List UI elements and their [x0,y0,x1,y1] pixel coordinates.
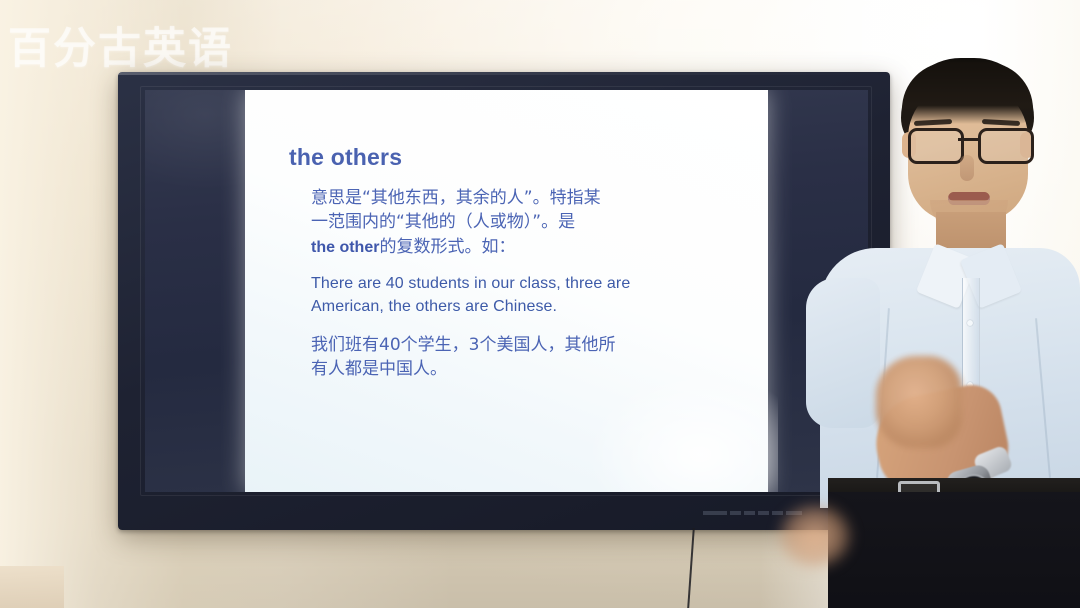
definition-line-3-suffix: 的复数形式。如： [379,237,515,257]
presenter-trousers [828,492,1080,608]
shirt-fold-right [1035,318,1051,478]
bezel-button-1[interactable] [703,511,727,515]
presenter-hand-blurred [770,500,860,580]
flat-panel-display: the others 意思是“其他东西，其余的人”。特指某 一范围内的“其他的（… [118,72,890,530]
slide-title: the others [289,145,746,170]
slide-example-chinese: 我们班有40个学生，3个美国人，其他所 有人都是中国人。 [311,333,746,381]
definition-line-1: 意思是“其他东西，其余的人”。特指某 [311,186,746,210]
power-cable [687,528,717,608]
video-frame: 百分古英语 the others 意思是“其他东西，其余的人”。特指某 一范围内… [0,0,1080,608]
presenter-nose [960,155,974,181]
definition-inline-term: the other [311,239,379,256]
example-en-line-2: American, the others are Chinese. [311,296,746,319]
presentation-slide: the others 意思是“其他东西，其余的人”。特指某 一范围内的“其他的（… [245,90,768,492]
presenter-hair-front [902,62,1033,124]
example-en-line-1: There are 40 students in our class, thre… [311,273,746,296]
slide-example-english: There are 40 students in our class, thre… [311,273,746,318]
example-cn-line-1: 我们班有40个学生，3个美国人，其他所 [311,333,746,357]
floor-edge [0,566,64,608]
example-cn-line-2: 有人都是中国人。 [311,357,746,381]
glasses-bridge [958,138,978,141]
presenter [780,0,1080,608]
glasses-lens-left [908,128,964,164]
bezel-button-4[interactable] [758,511,769,515]
bezel-highlight [118,72,890,75]
glasses-lens-right [978,128,1034,164]
definition-line-3: the other的复数形式。如： [311,235,746,260]
bezel-button-2[interactable] [730,511,741,515]
channel-watermark: 百分古英语 [8,14,233,76]
presenter-hand-gesturing [876,356,962,448]
display-screen: the others 意思是“其他东西，其余的人”。特指某 一范围内的“其他的（… [145,90,868,492]
bezel-button-3[interactable] [744,511,755,515]
presenter-sleeve-left [806,278,880,428]
shirt-button-1 [967,320,973,326]
definition-line-2: 一范围内的“其他的（人或物）”。是 [311,210,746,234]
slide-definition-paragraph: 意思是“其他东西，其余的人”。特指某 一范围内的“其他的（人或物）”。是 the… [311,186,746,259]
